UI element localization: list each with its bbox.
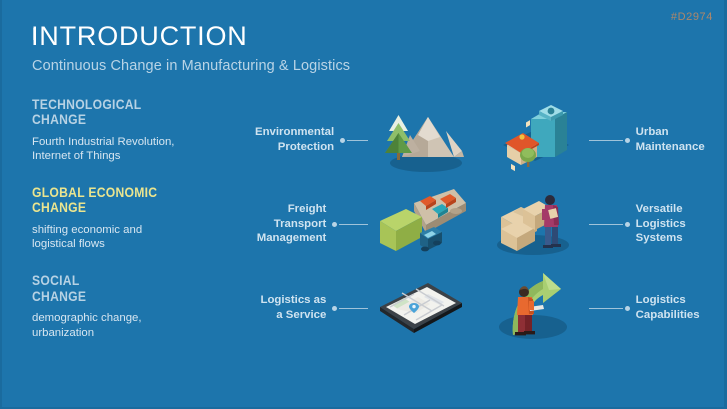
sidebar-body: demographic change, urbanization <box>32 311 232 341</box>
sidebar-heading: TECHNOLOGICAL CHANGE <box>32 97 212 128</box>
slide: #D2974 INTRODUCTION Continuous Change in… <box>0 0 727 409</box>
connector <box>340 135 368 145</box>
item-urban-maintenance[interactable]: Urban Maintenance <box>487 100 717 180</box>
item-environmental-protection[interactable]: Environmental Protection <box>255 100 470 180</box>
sidebar-heading: SOCIAL CHANGE <box>32 273 212 304</box>
sidebar: TECHNOLOGICAL CHANGE Fourth Industrial R… <box>32 97 232 340</box>
sidebar-block-global-economic-change: GLOBAL ECONOMIC CHANGE shifting economic… <box>32 185 232 252</box>
grid-row: Freight Transport Management <box>255 184 717 264</box>
item-logistics-capabilities[interactable]: Logistics Capabilities <box>487 268 717 348</box>
grid-row: Environmental Protection <box>255 100 717 180</box>
item-versatile-logistics-systems[interactable]: Versatile Logistics Systems <box>487 184 717 264</box>
sidebar-block-social-change: SOCIAL CHANGE demographic change, urbani… <box>32 273 232 340</box>
icon-grid: Environmental Protection <box>255 100 717 340</box>
connector-dot <box>340 138 345 143</box>
connector <box>332 219 368 229</box>
phone-map-icon <box>370 269 470 347</box>
connector-line <box>589 224 623 225</box>
truck-ship-icon <box>370 185 470 263</box>
grid-row: Logistics as a Service <box>255 268 717 348</box>
connector-line <box>589 308 623 309</box>
connector <box>589 135 630 145</box>
item-label: Freight Transport Management <box>255 202 326 246</box>
item-freight-transport-management[interactable]: Freight Transport Management <box>255 184 470 264</box>
connector-dot <box>625 138 630 143</box>
item-label: Logistics Capabilities <box>636 293 717 322</box>
sidebar-body: shifting economic and logistical flows <box>32 223 232 253</box>
connector-line <box>347 140 368 141</box>
city-building-icon <box>487 101 587 179</box>
connector-line <box>339 308 368 309</box>
item-label: Versatile Logistics Systems <box>636 202 717 246</box>
sidebar-heading: GLOBAL ECONOMIC CHANGE <box>32 185 212 216</box>
page-subtitle: Continuous Change in Manufacturing & Log… <box>32 58 350 74</box>
connector <box>589 219 630 229</box>
connector-line <box>589 140 623 141</box>
connector <box>589 303 630 313</box>
page-title: INTRODUCTION <box>31 23 248 50</box>
slide-edge-left <box>0 0 2 409</box>
sidebar-block-technological-change: TECHNOLOGICAL CHANGE Fourth Industrial R… <box>32 97 232 164</box>
connector-line <box>339 224 368 225</box>
connector-dot <box>625 222 630 227</box>
item-label: Logistics as a Service <box>255 293 326 322</box>
sidebar-body: Fourth Industrial Revolution, Internet o… <box>32 135 232 165</box>
connector-dot <box>332 306 337 311</box>
connector <box>332 303 368 313</box>
connector-dot <box>625 306 630 311</box>
boxes-worker-icon <box>487 185 587 263</box>
tree-mountain-icon <box>370 101 470 179</box>
item-logistics-as-a-service[interactable]: Logistics as a Service <box>255 268 470 348</box>
item-label: Urban Maintenance <box>636 125 717 154</box>
watermark: #D2974 <box>671 11 713 23</box>
growth-arrow-icon <box>487 269 587 347</box>
item-label: Environmental Protection <box>255 125 334 154</box>
connector-dot <box>332 222 337 227</box>
